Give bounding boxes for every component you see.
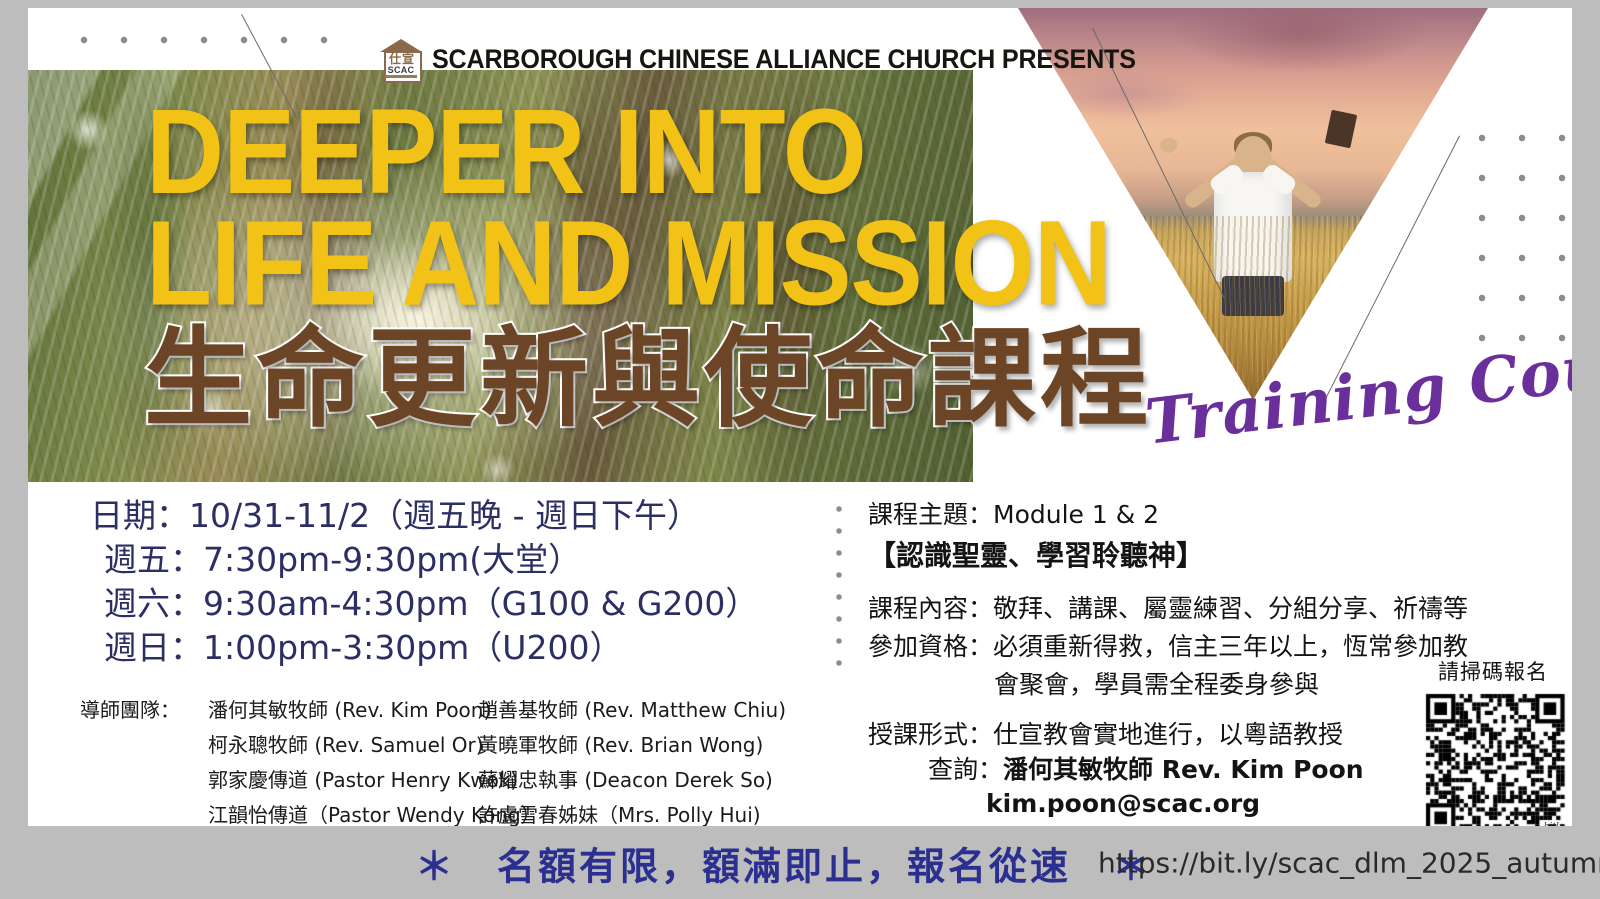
teachers-label-spacer bbox=[80, 798, 208, 826]
poster-root: 仕宣 SCAC SCARBOROUGH CHINESE ALLIANCE CHU… bbox=[0, 0, 1600, 899]
qr-label: 請掃碼報名 bbox=[1418, 656, 1568, 686]
schedule-date: 日期：10/31-11/2（週五晚 - 週日下午） bbox=[90, 494, 820, 538]
teachers-row: 柯永聰牧師 (Rev. Samuel Or) 黃曉軍牧師 (Rev. Brian… bbox=[80, 728, 880, 763]
contact-email[interactable]: kim.poon@scac.org bbox=[928, 787, 1364, 821]
qr-block: 請掃碼報名 bitly bbox=[1418, 656, 1568, 826]
teachers-row: 江韻怡傳道（Pastor Wendy Kong） 許盧雪春姊妹（Mrs. Pol… bbox=[80, 798, 880, 826]
person-figure bbox=[1158, 114, 1348, 344]
teacher-name: 許盧雪春姊妹（Mrs. Polly Hui) bbox=[478, 798, 761, 826]
bible-icon bbox=[1325, 109, 1358, 148]
course-topic-label: 課程主題： bbox=[868, 500, 993, 529]
title-english-line2: LIFE AND MISSION bbox=[146, 209, 1082, 320]
footer-url[interactable]: https://bit.ly/scac_dlm_2025_autumn_reg bbox=[1098, 847, 1600, 880]
schedule-block: 日期：10/31-11/2（週五晚 - 週日下午） 週五：7:30pm-9:30… bbox=[90, 494, 820, 670]
teacher-name: 黃曉軍牧師 (Rev. Brian Wong) bbox=[478, 728, 763, 763]
course-topic-value: Module 1 & 2 bbox=[993, 500, 1159, 529]
contact-block: 查詢：潘何其敏牧師 Rev. Kim Poon kim.poon@scac.or… bbox=[928, 753, 1364, 821]
left-hand bbox=[1160, 138, 1177, 153]
course-details-block: 課程主題：Module 1 & 2 【認識聖靈、學習聆聽神】 課程內容：敬拜、講… bbox=[868, 496, 1478, 754]
logo-chinese: 仕宣 bbox=[388, 53, 416, 65]
schedule-row-saturday: 週六：9:30am-4:30pm（G100 & G200） bbox=[90, 582, 820, 626]
title-chinese: 生命更新與使命課程 bbox=[144, 326, 1152, 434]
contact-label: 查詢： bbox=[928, 755, 1003, 784]
teachers-label-spacer bbox=[80, 728, 208, 763]
teacher-name: 郭家慶傳道 (Pastor Henry Kwok) bbox=[208, 763, 478, 798]
scac-logo-icon: 仕宣 SCAC bbox=[378, 36, 424, 82]
contact-line: 查詢：潘何其敏牧師 Rev. Kim Poon bbox=[928, 753, 1364, 787]
qr-signature: bitly bbox=[1544, 822, 1564, 826]
presents-line: SCARBOROUGH CHINESE ALLIANCE CHURCH PRES… bbox=[432, 44, 1136, 75]
teacher-name: 柯永聰牧師 (Rev. Samuel Or) bbox=[208, 728, 478, 763]
logo-bar bbox=[385, 75, 417, 78]
qr-code-icon[interactable]: bitly bbox=[1418, 690, 1566, 826]
poster-card: 仕宣 SCAC SCARBOROUGH CHINESE ALLIANCE CHU… bbox=[28, 8, 1572, 826]
teachers-block: 導師團隊： 潘何其敏牧師 (Rev. Kim Poon) 趙善基牧師 (Rev.… bbox=[80, 693, 880, 826]
teacher-name: 蘇耀忠執事 (Deacon Derek So) bbox=[478, 763, 773, 798]
course-topic-line: 課程主題：Module 1 & 2 bbox=[868, 496, 1478, 534]
course-content-line: 課程內容：敬拜、講課、屬靈練習、分組分享、祈禱等 bbox=[868, 590, 1478, 628]
pants bbox=[1222, 276, 1284, 316]
teacher-name: 江韻怡傳道（Pastor Wendy Kong） bbox=[208, 798, 478, 826]
schedule-row-friday: 週五：7:30pm-9:30pm(大堂） bbox=[90, 538, 820, 582]
teacher-name: 潘何其敏牧師 (Rev. Kim Poon) bbox=[208, 693, 478, 728]
dot-column-divider bbox=[828, 498, 850, 673]
teachers-label-spacer bbox=[80, 763, 208, 798]
contact-person: 潘何其敏牧師 Rev. Kim Poon bbox=[1003, 755, 1364, 784]
schedule-row-sunday: 週日：1:00pm-3:30pm（U200） bbox=[90, 626, 820, 670]
course-topic-bracket: 【認識聖靈、學習聆聽神】 bbox=[868, 534, 1478, 578]
title-english: DEEPER INTO LIFE AND MISSION bbox=[146, 98, 1082, 320]
presenter-header: 仕宣 SCAC SCARBOROUGH CHINESE ALLIANCE CHU… bbox=[378, 36, 1189, 82]
teachers-label: 導師團隊： bbox=[80, 693, 208, 728]
teacher-name: 趙善基牧師 (Rev. Matthew Chiu) bbox=[478, 693, 786, 728]
footer-note: ＊ 名額有限，額滿即止，報名從速 ＊ bbox=[415, 836, 1153, 891]
logo-abbr: SCAC bbox=[386, 65, 416, 75]
teachers-row: 郭家慶傳道 (Pastor Henry Kwok) 蘇耀忠執事 (Deacon … bbox=[80, 763, 880, 798]
course-eligibility-line1: 參加資格：必須重新得救，信主三年以上，恆常參加教 bbox=[868, 628, 1478, 666]
teachers-row: 導師團隊： 潘何其敏牧師 (Rev. Kim Poon) 趙善基牧師 (Rev.… bbox=[80, 693, 880, 728]
course-format-line: 授課形式：仕宣教會實地進行，以粵語教授 bbox=[868, 716, 1478, 754]
course-eligibility-line2: 會聚會，學員需全程委身參與 bbox=[868, 666, 1478, 704]
footer-bar: ＊ 名額有限，額滿即止，報名從速 ＊ https://bit.ly/scac_d… bbox=[0, 827, 1600, 899]
